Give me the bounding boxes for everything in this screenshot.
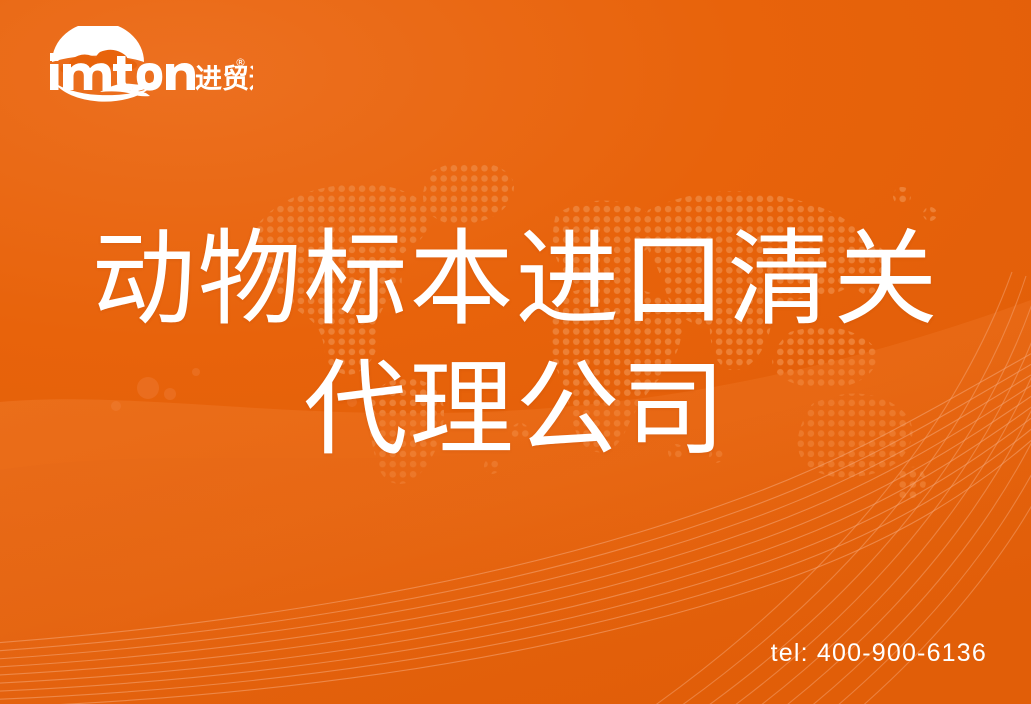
page-title: 动物标本进口清关 代理公司 <box>0 214 1031 474</box>
logo-artwork: 进贸通 ® <box>38 26 253 108</box>
contact-telephone[interactable]: tel: 400-900-6136 <box>771 639 987 668</box>
registered-trademark-icon: ® <box>235 56 246 69</box>
title-line-2: 代理公司 <box>0 344 1031 474</box>
logo-wordmark <box>50 53 195 91</box>
title-line-1: 动物标本进口清关 <box>0 214 1031 344</box>
brand-logo[interactable]: 进贸通 ® <box>38 26 253 108</box>
promo-banner: 进贸通 ® 动物标本进口清关 代理公司 tel: 400-900-6136 <box>0 0 1031 704</box>
